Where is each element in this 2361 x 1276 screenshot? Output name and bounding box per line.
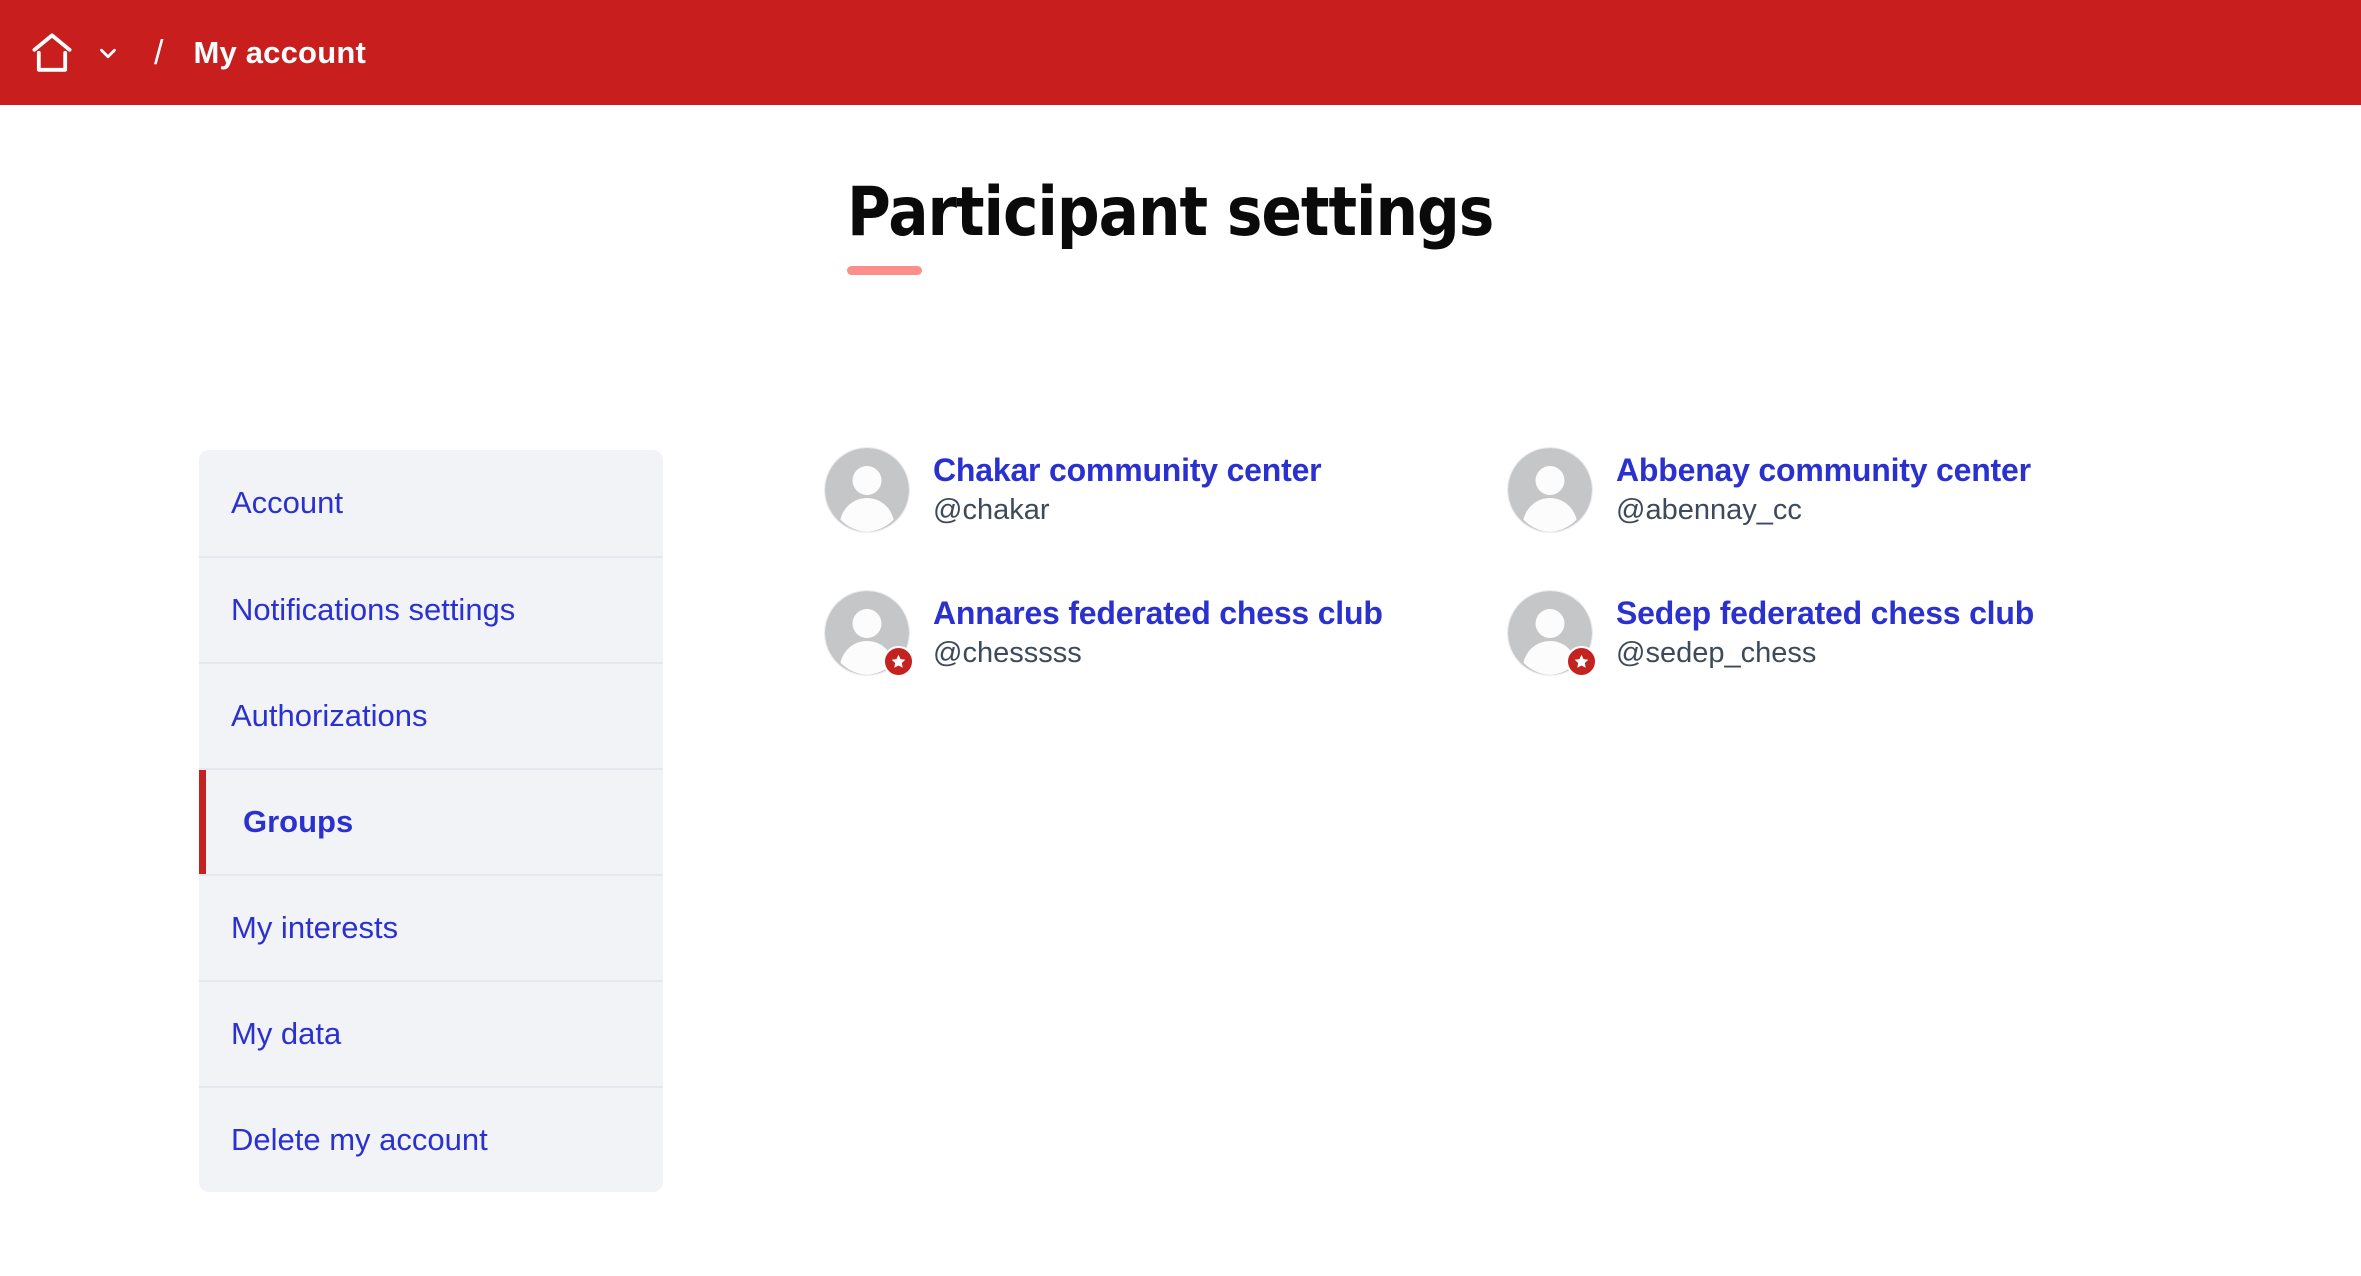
groups-list: Chakar community center@chakarAbbenay co… <box>825 448 2175 675</box>
account-settings-nav: AccountNotifications settingsAuthorizati… <box>199 450 663 1192</box>
group-card[interactable]: Sedep federated chess club@sedep_chess <box>1508 591 2191 675</box>
group-nickname: @chesssss <box>933 636 1383 671</box>
breadcrumb-separator: / <box>154 36 163 70</box>
group-avatar-image <box>1508 448 1592 532</box>
sidebar-item-account[interactable]: Account <box>199 450 663 556</box>
verified-badge <box>883 646 914 677</box>
sidebar-item-notifications-settings[interactable]: Notifications settings <box>199 556 663 662</box>
group-card[interactable]: Chakar community center@chakar <box>825 448 1508 532</box>
breadcrumb-dropdown-button[interactable] <box>86 25 130 81</box>
group-nickname: @chakar <box>933 493 1321 528</box>
avatar[interactable] <box>1508 448 1592 532</box>
group-name-link[interactable]: Abbenay community center <box>1616 452 2031 490</box>
group-card[interactable]: Abbenay community center@abennay_cc <box>1508 448 2191 532</box>
sidebar-item-my-data[interactable]: My data <box>199 980 663 1086</box>
group-text: Abbenay community center@abennay_cc <box>1616 452 2031 528</box>
chevron-down-icon <box>95 40 121 66</box>
title-accent-rule <box>847 266 922 275</box>
avatar[interactable] <box>1508 591 1592 675</box>
home-button[interactable] <box>24 25 80 81</box>
group-nickname: @abennay_cc <box>1616 493 2031 528</box>
group-nickname: @sedep_chess <box>1616 636 2034 671</box>
default-avatar-icon <box>1508 448 1592 532</box>
group-avatar-image <box>825 448 909 532</box>
group-text: Sedep federated chess club@sedep_chess <box>1616 595 2034 671</box>
sidebar-item-label: Authorizations <box>231 698 427 734</box>
sidebar-item-label: My data <box>231 1016 341 1052</box>
sidebar-item-authorizations[interactable]: Authorizations <box>199 662 663 768</box>
sidebar-item-label: Delete my account <box>231 1122 488 1158</box>
verified-badge <box>1566 646 1597 677</box>
sidebar-item-label: Account <box>231 485 343 521</box>
default-avatar-icon <box>825 448 909 532</box>
home-icon <box>28 29 76 77</box>
breadcrumb-current-page: My account <box>193 35 366 71</box>
page-title-block: Participant settings <box>847 178 1582 275</box>
sidebar-item-label: Notifications settings <box>231 592 515 628</box>
sidebar-item-delete-my-account[interactable]: Delete my account <box>199 1086 663 1192</box>
star-badge-icon <box>890 653 907 670</box>
sidebar-item-my-interests[interactable]: My interests <box>199 874 663 980</box>
sidebar-item-label: My interests <box>231 910 398 946</box>
group-text: Chakar community center@chakar <box>933 452 1321 528</box>
group-name-link[interactable]: Chakar community center <box>933 452 1321 490</box>
group-name-link[interactable]: Sedep federated chess club <box>1616 595 2034 633</box>
group-card[interactable]: Annares federated chess club@chesssss <box>825 591 1508 675</box>
page-title: Participant settings <box>847 178 1493 247</box>
sidebar-item-label: Groups <box>231 804 353 840</box>
star-badge-icon <box>1573 653 1590 670</box>
avatar[interactable] <box>825 448 909 532</box>
group-name-link[interactable]: Annares federated chess club <box>933 595 1383 633</box>
sidebar-item-groups[interactable]: Groups <box>199 768 663 874</box>
breadcrumb-bar: / My account <box>0 0 2361 105</box>
group-text: Annares federated chess club@chesssss <box>933 595 1383 671</box>
avatar[interactable] <box>825 591 909 675</box>
